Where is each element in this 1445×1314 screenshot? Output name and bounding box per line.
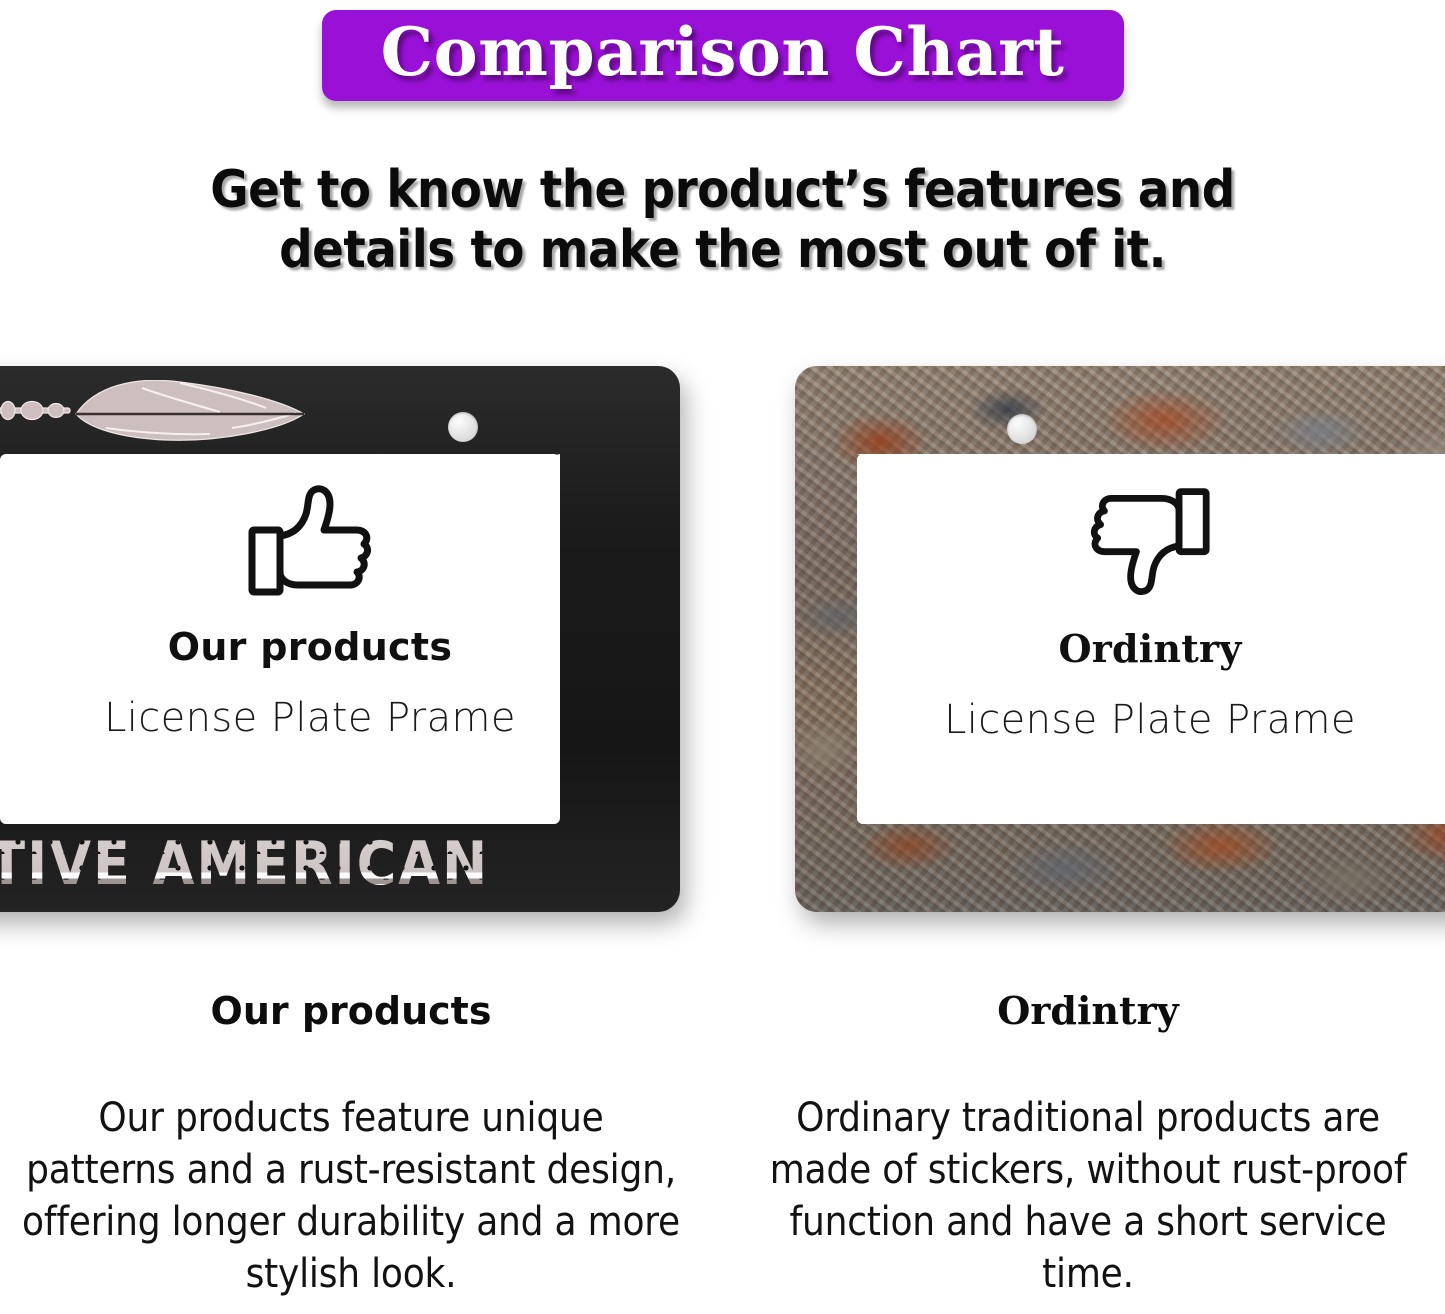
left-mounting-hole bbox=[448, 412, 478, 442]
right-plate-window bbox=[857, 454, 1445, 824]
page-title: Comparison Chart bbox=[362, 16, 1084, 89]
ordintry-heading: Ordintry bbox=[762, 988, 1414, 1034]
ordinary-product-frame: Ordintry License Plate Prame bbox=[795, 366, 1445, 912]
plate-slogan-text: NATIVE AMERICAN bbox=[0, 828, 640, 900]
feather-arrow-graphic bbox=[0, 380, 440, 450]
our-products-column: Our products Our products feature unique… bbox=[0, 988, 722, 1314]
our-product-frame: NATIVE AMERICAN Our products License Pla… bbox=[0, 366, 680, 912]
product-comparison-frames: NATIVE AMERICAN Our products License Pla… bbox=[0, 366, 1445, 916]
right-mounting-hole bbox=[1007, 414, 1037, 444]
our-products-heading: Our products bbox=[20, 988, 682, 1034]
subtitle: Get to know the product’s features and d… bbox=[0, 160, 1445, 280]
ordintry-description: Ordinary traditional products are made o… bbox=[762, 1092, 1414, 1300]
left-plate-window bbox=[0, 454, 560, 824]
comparison-description-columns: Our products Our products feature unique… bbox=[0, 988, 1445, 1314]
right-window-chamfer bbox=[857, 454, 977, 498]
left-window-chamfer bbox=[370, 454, 560, 498]
title-banner: Comparison Chart bbox=[322, 10, 1124, 101]
title-banner-container: Comparison Chart bbox=[0, 10, 1445, 101]
our-products-description: Our products feature unique patterns and… bbox=[20, 1092, 682, 1300]
subtitle-line-1: Get to know the product’s features and bbox=[0, 160, 1445, 220]
ordintry-column: Ordintry Ordinary traditional products a… bbox=[722, 988, 1444, 1314]
subtitle-line-2: details to make the most out of it. bbox=[0, 220, 1445, 280]
